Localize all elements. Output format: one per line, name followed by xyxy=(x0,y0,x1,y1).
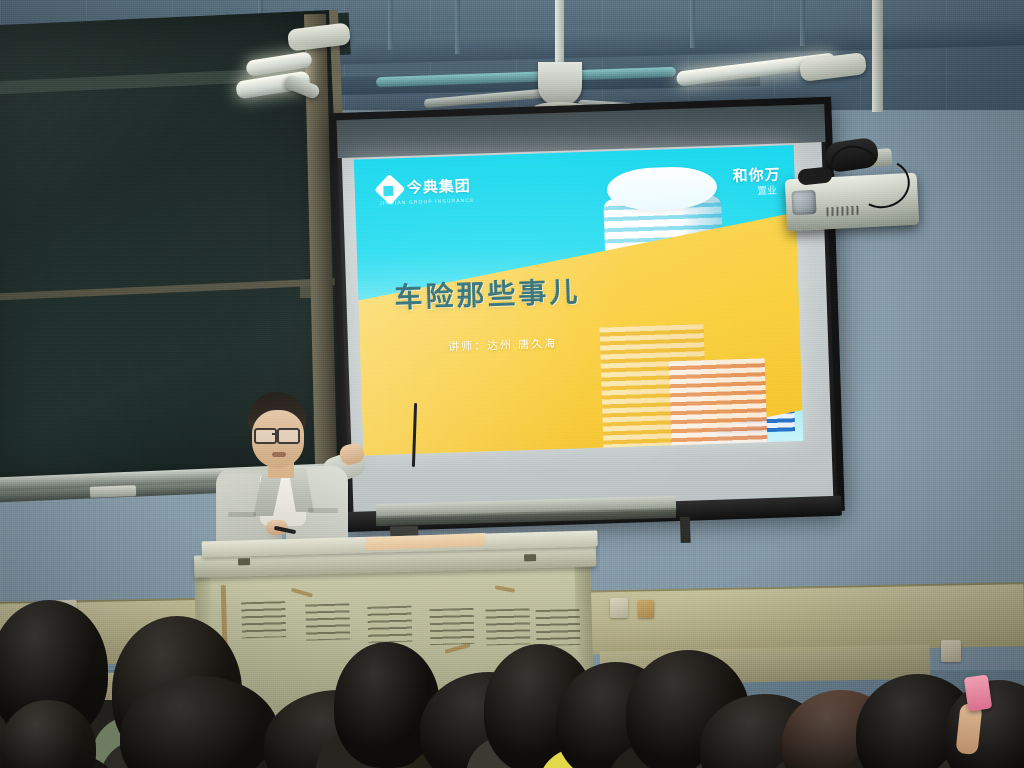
presenter-pocket xyxy=(228,512,256,517)
podium-hinge xyxy=(238,558,250,565)
projector-lens xyxy=(791,190,816,215)
ceiling-hanger-rod xyxy=(455,0,460,54)
logo-company-name: 今典集团 xyxy=(406,175,471,198)
podium-hinge xyxy=(524,554,536,561)
presentation-slide: 今典集团 JINDIAN GROUP INSURANCE 和你万 置业 车险那些… xyxy=(354,145,804,455)
smartphone-icon xyxy=(964,674,992,711)
audience xyxy=(0,568,1024,768)
projector-mount-pole xyxy=(872,0,883,112)
eyeglasses-bridge xyxy=(272,433,279,435)
ceiling-hanger-rod xyxy=(690,0,695,48)
projector-vent xyxy=(826,206,860,217)
eyeglasses-icon xyxy=(277,428,300,444)
presenter-mouth xyxy=(272,452,286,457)
eyeglasses-icon xyxy=(254,428,277,444)
classroom-photo: 今典集团 JINDIAN GROUP INSURANCE 和你万 置业 车险那些… xyxy=(0,0,1024,768)
logo-inner-icon xyxy=(383,186,393,196)
slide-title: 车险那些事儿 xyxy=(394,270,581,316)
ceiling-fan-motor xyxy=(538,62,582,106)
screen-mount-bracket xyxy=(680,517,691,543)
presenter-pocket xyxy=(308,508,338,513)
blackboard-eraser xyxy=(90,485,136,498)
ceiling-fan-pole xyxy=(555,0,564,66)
ceiling-hanger-rod xyxy=(388,0,393,50)
slide-logo: 今典集团 JINDIAN GROUP INSURANCE xyxy=(378,173,499,211)
projection-screen: 今典集团 JINDIAN GROUP INSURANCE 和你万 置业 车险那些… xyxy=(329,97,844,527)
ceiling-hanger-rod xyxy=(800,0,805,46)
wall-bracket xyxy=(300,286,316,298)
slide-corner-text-secondary: 置业 xyxy=(757,182,777,198)
